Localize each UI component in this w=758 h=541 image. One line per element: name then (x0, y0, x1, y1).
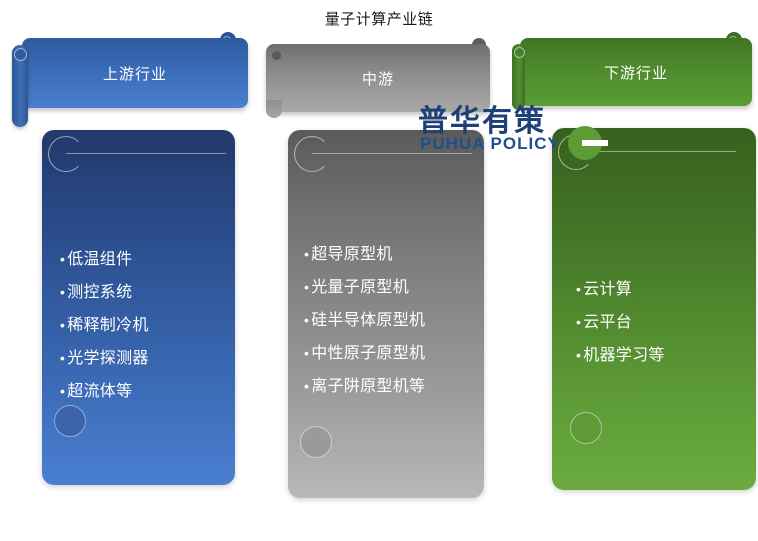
banner-label-upstream: 上游行业 (22, 63, 248, 84)
list-item: 低温组件 (60, 243, 253, 276)
panel-upstream[interactable]: 低温组件 测控系统 稀释制冷机 光学探测器 超流体等 (42, 130, 235, 485)
column-upstream: 上游行业 低温组件 测控系统 稀释制冷机 光学探测器 超流体等 (12, 0, 248, 541)
banner-upstream[interactable]: 上游行业 (22, 38, 248, 108)
diagram-canvas: 量子计算产业链 上游行业 低温组件 测控系统 稀释制冷机 光学探测器 超流体等 (0, 0, 758, 541)
banner-downstream[interactable]: 下游行业 (520, 38, 752, 106)
bullet-list-midstream: 超导原型机 光量子原型机 硅半导体原型机 中性原子原型机 离子阱原型机等 (288, 238, 500, 403)
page-curl-fold-line-icon (576, 151, 736, 152)
list-item: 超导原型机 (304, 238, 500, 271)
list-item: 中性原子原型机 (304, 337, 500, 370)
page-curl-bottom-icon (570, 412, 602, 444)
list-item: 超流体等 (60, 375, 253, 408)
column-midstream: 中游 超导原型机 光量子原型机 硅半导体原型机 中性原子原型机 离子阱原型机等 (258, 0, 498, 541)
column-downstream: 下游行业 云计算 云平台 机器学习等 (508, 0, 756, 541)
bullet-list-downstream: 云计算 云平台 机器学习等 (552, 273, 758, 372)
banner-midstream[interactable]: 中游 (266, 44, 490, 112)
banner-label-downstream: 下游行业 (520, 62, 752, 83)
list-item: 光学探测器 (60, 342, 253, 375)
list-item: 离子阱原型机等 (304, 370, 500, 403)
page-curl-fold-line-icon (312, 153, 472, 154)
list-item: 稀释制冷机 (60, 309, 253, 342)
list-item: 机器学习等 (576, 339, 758, 372)
page-curl-fold-line-icon (66, 153, 226, 154)
panel-downstream[interactable]: 云计算 云平台 机器学习等 (552, 128, 756, 490)
scroll-roll-cap-downstream-icon (514, 47, 525, 58)
page-curl-top-icon (294, 136, 330, 172)
list-item: 硅半导体原型机 (304, 304, 500, 337)
page-curl-top-icon (558, 134, 594, 170)
list-item: 光量子原型机 (304, 271, 500, 304)
page-curl-top-icon (48, 136, 84, 172)
page-curl-bottom-icon (300, 426, 332, 458)
scroll-tab-midstream-icon (266, 100, 282, 118)
list-item: 测控系统 (60, 276, 253, 309)
list-item: 云平台 (576, 306, 758, 339)
scroll-roll-cap-midstream-icon (272, 51, 281, 60)
banner-label-midstream: 中游 (266, 68, 490, 89)
list-item: 云计算 (576, 273, 758, 306)
panel-midstream[interactable]: 超导原型机 光量子原型机 硅半导体原型机 中性原子原型机 离子阱原型机等 (288, 130, 484, 498)
scroll-roll-cap-upstream-icon (14, 48, 27, 61)
page-curl-bottom-icon (54, 405, 86, 437)
bullet-list-upstream: 低温组件 测控系统 稀释制冷机 光学探测器 超流体等 (42, 243, 253, 408)
